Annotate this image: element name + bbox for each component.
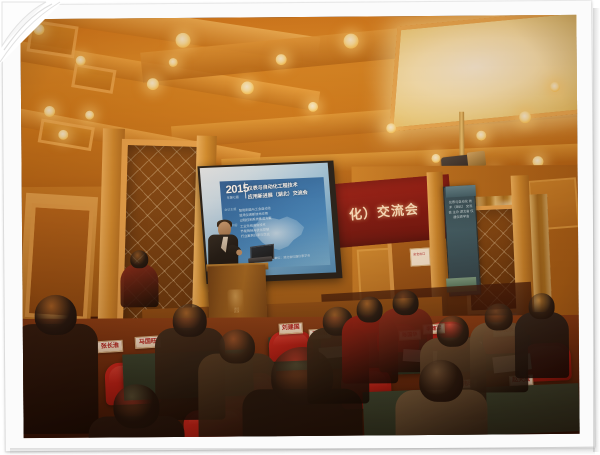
- audience-member-head: [529, 293, 555, 319]
- speaker-hand: [236, 249, 242, 255]
- audience-member-head: [113, 384, 159, 428]
- projector-mount-pole: [459, 112, 464, 158]
- audience-member-head: [357, 296, 383, 322]
- audience-member-head: [485, 303, 513, 330]
- downlight-icon: [550, 82, 560, 92]
- downlight-icon: [168, 57, 177, 66]
- name-placard: 刘建国: [278, 322, 303, 334]
- exit-sign-placard: [410, 247, 431, 266]
- downlight-icon: [147, 78, 159, 90]
- audience-member-head: [219, 329, 255, 363]
- downlight-icon: [33, 24, 44, 35]
- frame-shadow-bottom: [10, 448, 595, 455]
- frame-shadow-right: [593, 8, 600, 452]
- audience-member-torso: [120, 263, 158, 307]
- skylight-panel: [389, 15, 580, 132]
- audience-member-head: [130, 250, 148, 268]
- audience-member-head: [173, 304, 207, 337]
- conference-photograph: 安全出口 5仪表与 化）交流会 仪表与自动化 技术（湖北） 交流会 主办 湖北省…: [20, 15, 579, 438]
- podium-emblem-label: 湖北 宾馆: [224, 307, 250, 315]
- downlight-icon: [275, 54, 286, 65]
- audience-member-head: [437, 316, 469, 347]
- slide-bullet-list: 智能制造与工业自动化 现场仪表新技术应用 过程控制系统集成方案 工业无线通信技术…: [239, 206, 273, 240]
- audience-member-torso: [515, 312, 570, 378]
- name-placard-label: 刘建国: [280, 323, 303, 333]
- rollup-banner-header: [445, 185, 476, 198]
- downlight-icon: [76, 56, 86, 66]
- downlight-icon: [85, 110, 94, 119]
- audience-member-head: [419, 360, 463, 402]
- downlight-icon: [519, 111, 531, 123]
- downlight-icon: [44, 105, 55, 116]
- downlight-icon: [431, 153, 440, 162]
- downlight-icon: [58, 130, 68, 140]
- downlight-icon: [240, 81, 253, 94]
- name-placard: 张长淮: [97, 340, 124, 354]
- downlight-icon: [386, 123, 396, 133]
- downlight-icon: [175, 32, 190, 47]
- downlight-icon: [308, 102, 318, 112]
- downlight-icon: [476, 131, 486, 141]
- name-placard-label: 张长淮: [98, 341, 123, 352]
- downlight-icon: [343, 33, 358, 48]
- audience-member-head: [393, 290, 419, 315]
- photo-frame: 安全出口 5仪表与 化）交流会 仪表与自动化 技术（湖北） 交流会 主办 湖北省…: [0, 0, 600, 455]
- rollup-banner-text: 仪表与自动化 技术（湖北） 交流会 主办 湖北省 仪器仪表学会: [447, 199, 474, 221]
- audience-member-head: [35, 295, 77, 335]
- audience-member-torso: [20, 323, 98, 434]
